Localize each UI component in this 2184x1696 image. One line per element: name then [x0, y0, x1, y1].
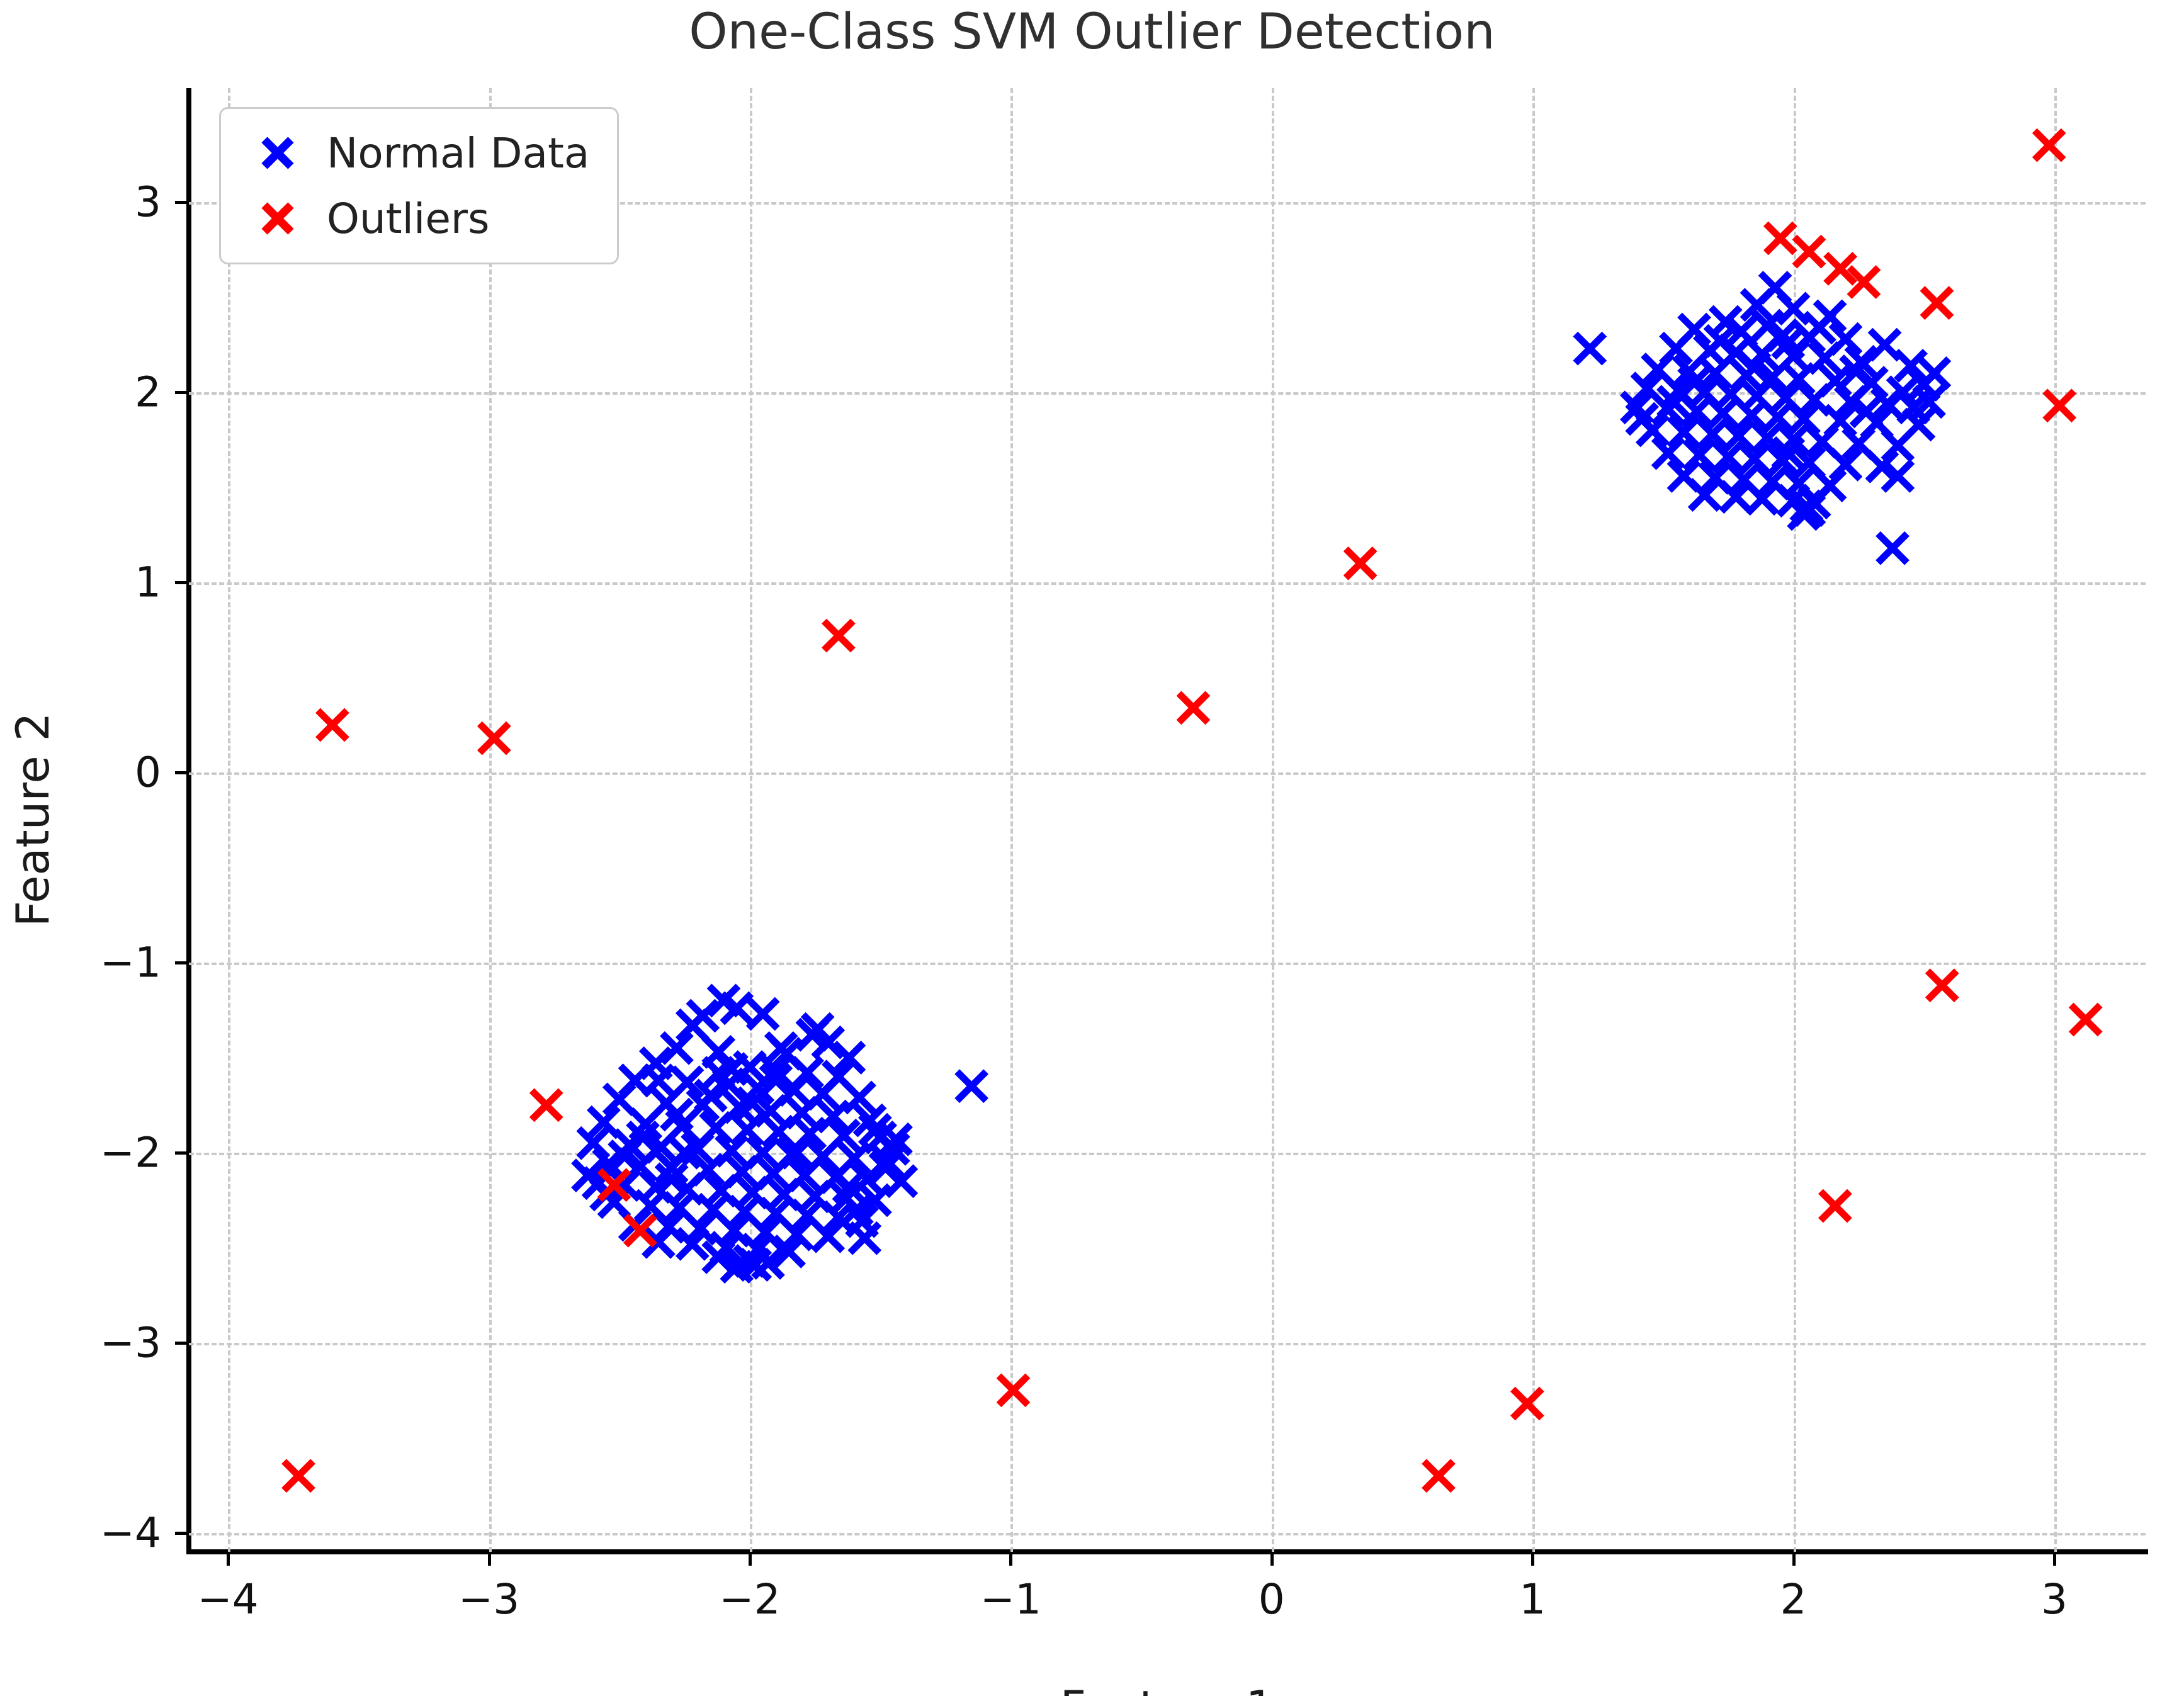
scatter-point [824, 621, 853, 650]
chart-page: One-Class SVM Outlier Detection −4−3−2−1… [0, 0, 2184, 1696]
scatter-point [999, 1376, 1028, 1405]
tick-label-x: 2 [1780, 1575, 1807, 1624]
legend-item-outliers[interactable]: Outliers [240, 186, 589, 251]
scatter-point [284, 1461, 313, 1490]
scatter-point [1766, 224, 1795, 253]
scatter-point [1920, 359, 1949, 388]
y-axis-label: Feature 2 [6, 713, 59, 927]
tick-label-x: −3 [458, 1575, 519, 1624]
tick-label-x: −2 [719, 1575, 780, 1624]
scatter-point [749, 999, 778, 1028]
tick-x [227, 1552, 230, 1566]
legend[interactable]: Normal Data Outliers [219, 107, 619, 264]
series-normal-data [574, 273, 1949, 1281]
x-axis-label: Feature 1 [189, 1681, 2146, 1696]
scatter-point [1922, 288, 1951, 317]
scatter-point [2045, 391, 2074, 420]
legend-label-normal-data: Normal Data [315, 129, 589, 178]
tick-label-x: −4 [198, 1575, 259, 1624]
tick-x [488, 1552, 491, 1566]
tick-x [1270, 1552, 1274, 1566]
tick-x [1531, 1552, 1534, 1566]
x-marker-icon [240, 196, 315, 240]
tick-label-x: 0 [1259, 1575, 1285, 1624]
tick-x [2053, 1552, 2056, 1566]
scatter-points-layer [189, 88, 2146, 1552]
tick-label-y: 2 [161, 368, 188, 417]
scatter-point [957, 1071, 986, 1100]
scatter-point [532, 1090, 561, 1119]
scatter-point [1513, 1389, 1542, 1418]
tick-x [1009, 1552, 1012, 1566]
tick-label-x: −1 [980, 1575, 1041, 1624]
scatter-point [480, 724, 509, 753]
tick-label-y: 0 [161, 749, 188, 797]
x-marker-icon [240, 131, 315, 175]
scatter-point [2071, 1005, 2100, 1034]
scatter-point [1794, 237, 1823, 266]
tick-label-x: 1 [1519, 1575, 1546, 1624]
tick-label-y: 3 [161, 178, 188, 227]
scatter-point [1870, 331, 1899, 359]
page-title: One-Class SVM Outlier Detection [0, 4, 2184, 60]
scatter-point [1928, 971, 1957, 1000]
scatter-point [318, 711, 347, 740]
scatter-point [1424, 1461, 1453, 1490]
scatter-point [1179, 693, 1208, 722]
scatter-point [1346, 549, 1375, 578]
scatter-point [2035, 131, 2064, 160]
plot-area: −4−3−2−101233210−1−2−3−4 Normal Data Out… [189, 88, 2146, 1552]
scatter-point [1779, 294, 1808, 323]
legend-item-normal-data[interactable]: Normal Data [240, 120, 589, 186]
tick-label-x: 3 [2041, 1575, 2068, 1624]
tick-x [749, 1552, 752, 1566]
scatter-point [1575, 334, 1604, 363]
legend-label-outliers: Outliers [315, 195, 489, 243]
scatter-point [1878, 534, 1907, 563]
tick-x [1792, 1552, 1796, 1566]
scatter-point [1821, 1191, 1850, 1220]
tick-label-y: 1 [161, 558, 188, 607]
